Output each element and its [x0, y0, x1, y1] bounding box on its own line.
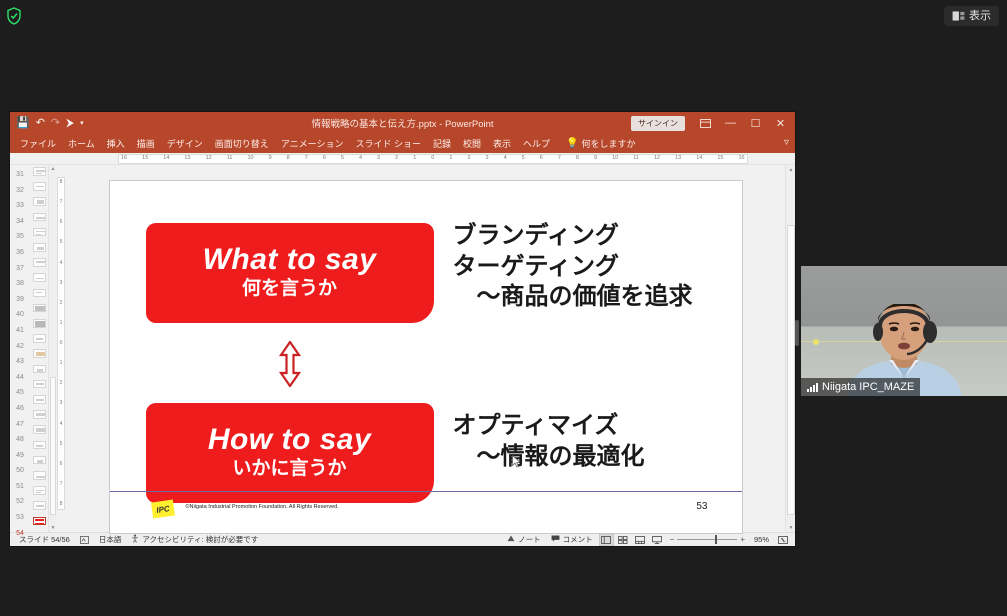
- slide-thumbnail[interactable]: [33, 471, 46, 480]
- reading-view-button[interactable]: [633, 534, 648, 546]
- slide-thumbnail[interactable]: [33, 289, 46, 298]
- comments-label: コメント: [563, 534, 593, 545]
- what-to-say-japanese: 何を言うか: [242, 277, 337, 302]
- horizontal-ruler-track: 16 15 14 13 12 11 10 9 8 7 6 5 4 3 2 1 0…: [118, 154, 748, 164]
- slide-thumbnail[interactable]: [33, 410, 46, 419]
- ruler-tick: 3: [60, 401, 63, 406]
- slide-thumbnail[interactable]: [33, 395, 46, 404]
- ruler-tick: 8: [60, 502, 63, 507]
- ribbon-tab-slideshow[interactable]: スライド ショー: [349, 134, 427, 153]
- close-button[interactable]: ✕: [768, 112, 793, 134]
- ruler-tick: 11: [227, 156, 233, 162]
- ruler-tick: 4: [60, 261, 63, 266]
- ruler-tick: 14: [163, 156, 169, 162]
- accessibility-label: アクセシビリティ: 検討が必要です: [142, 534, 258, 545]
- slide-page-number: 53: [696, 501, 707, 512]
- slide-number: 39: [16, 292, 24, 308]
- slide-footer: IPC ©Niigata Industrial Promotion Founda…: [110, 491, 742, 533]
- slide-editing-surface[interactable]: What to say 何を言うか ブランディング ターゲティング 〜商品の価値…: [110, 181, 742, 533]
- slide-scrollbar-thumb[interactable]: [787, 225, 795, 515]
- slide-thumbnail[interactable]: [33, 167, 46, 176]
- ribbon-tab-file[interactable]: ファイル: [14, 134, 62, 153]
- optimize-line-1: オプティマイズ: [453, 411, 645, 442]
- tell-me-search[interactable]: 💡 何をしますか: [560, 134, 641, 153]
- ribbon-tab-draw[interactable]: 描画: [131, 134, 161, 153]
- slide-thumbnail[interactable]: [33, 273, 46, 282]
- ruler-tick: 5: [60, 240, 63, 245]
- ruler-tick: 8: [287, 156, 290, 162]
- ribbon-tab-view[interactable]: 表示: [487, 134, 517, 153]
- slide-number: 50: [16, 463, 24, 479]
- branding-text-block[interactable]: ブランディング ターゲティング 〜商品の価値を追求: [453, 221, 693, 313]
- signal-strength-icon: [807, 383, 818, 392]
- ruler-tick: 3: [377, 156, 380, 162]
- ruler-tick: 9: [269, 156, 272, 162]
- accessibility-icon: [131, 534, 139, 545]
- minimize-button[interactable]: —: [718, 112, 743, 134]
- slide-number: 35: [16, 229, 24, 245]
- slide-number: 41: [16, 323, 24, 339]
- ruler-tick: 6: [540, 156, 543, 162]
- ruler-tick: 7: [60, 200, 63, 205]
- ruler-tick: 8: [576, 156, 579, 162]
- meeting-view-label: 表示: [969, 6, 991, 26]
- slide-thumbnail[interactable]: [33, 334, 46, 343]
- thumbnail-scrollbar[interactable]: ▲ ▼: [48, 165, 56, 532]
- notes-label: ノート: [518, 534, 541, 545]
- ruler-tick: 5: [341, 156, 344, 162]
- slide-number: 34: [16, 214, 24, 230]
- zoom-slider[interactable]: − +: [670, 535, 745, 544]
- copyright-text: ©Niigata Industrial Promotion Foundation…: [186, 504, 339, 510]
- ruler-tick: 6: [323, 156, 326, 162]
- powerpoint-window: 💾 ↶ ↷ ⮞ ▾ 情報戦略の基本と伝え方.pptx - PowerPoint …: [10, 112, 795, 546]
- vertical-ruler: 8 7 6 5 4 3 2 1 0 1 2 3 4 5 6 7 8: [56, 165, 66, 532]
- slide-number: 43: [16, 354, 24, 370]
- slide-number: 36: [16, 245, 24, 261]
- undo-icon[interactable]: ↶: [36, 118, 45, 129]
- ruler-tick: 15: [142, 156, 148, 162]
- workspace: 31 32 33 34 35 36 37 38 39 40 41 42 43 4…: [10, 165, 795, 532]
- slide-thumbnail-active[interactable]: [33, 517, 46, 526]
- slide-thumbnail[interactable]: [33, 486, 46, 495]
- ruler-tick: 7: [305, 156, 308, 162]
- branding-line-2: ターゲティング: [453, 252, 693, 283]
- slide-number: 46: [16, 401, 24, 417]
- ruler-tick: 1: [60, 321, 63, 326]
- slide-thumbnail[interactable]: [33, 182, 46, 191]
- normal-view-button[interactable]: [599, 534, 614, 546]
- slide-thumbnail[interactable]: [33, 319, 46, 328]
- slide-number: 40: [16, 307, 24, 323]
- sign-in-button[interactable]: サインイン: [631, 116, 685, 131]
- comments-button[interactable]: コメント: [546, 534, 598, 545]
- slide-thumbnail[interactable]: [33, 441, 46, 450]
- ruler-tick: 16: [739, 156, 745, 162]
- scroll-up-icon[interactable]: ▲: [786, 165, 795, 174]
- slide-number-column: 31 32 33 34 35 36 37 38 39 40 41 42 43 4…: [10, 165, 30, 532]
- redo-icon[interactable]: ↷: [51, 118, 60, 129]
- ruler-tick: 6: [60, 462, 63, 467]
- collapse-ribbon-icon[interactable]: ▿: [784, 137, 789, 148]
- ribbon-tab-bar: ファイル ホーム 挿入 描画 デザイン 画面切り替え アニメーション スライド …: [10, 134, 795, 153]
- slide-number: 53: [16, 510, 24, 526]
- zoom-slider-knob[interactable]: [715, 535, 717, 544]
- slide-thumbnail[interactable]: [33, 228, 46, 237]
- language-indicator[interactable]: 日本語: [94, 534, 127, 545]
- layout-view-icon: [952, 11, 965, 21]
- ruler-tick: 16: [121, 156, 127, 162]
- meeting-view-button[interactable]: 表示: [944, 6, 999, 26]
- ruler-tick: 13: [675, 156, 681, 162]
- ribbon-display-options-button[interactable]: [693, 112, 718, 134]
- ribbon-tab-help[interactable]: ヘルプ: [517, 134, 556, 153]
- ruler-tick: 8: [60, 180, 63, 185]
- double-headed-vertical-arrow-icon: [276, 341, 304, 392]
- slide-number: 38: [16, 276, 24, 292]
- ruler-tick: 2: [395, 156, 398, 162]
- how-to-say-box[interactable]: How to say いかに言うか: [146, 403, 434, 503]
- ipc-logo: IPC: [150, 500, 174, 519]
- slide-number: 32: [16, 183, 24, 199]
- title-bar: 💾 ↶ ↷ ⮞ ▾ 情報戦略の基本と伝え方.pptx - PowerPoint …: [10, 112, 795, 134]
- zoom-out-button[interactable]: −: [670, 535, 675, 544]
- slide-number: 48: [16, 432, 24, 448]
- ribbon-tab-transitions[interactable]: 画面切り替え: [209, 134, 275, 153]
- ruler-tick: 10: [612, 156, 618, 162]
- horizontal-ruler: 16 15 14 13 12 11 10 9 8 7 6 5 4 3 2 1 0…: [10, 153, 795, 165]
- customize-quick-access-icon[interactable]: ▾: [80, 120, 84, 127]
- slide-thumbnail[interactable]: [33, 304, 46, 313]
- ruler-tick: 1: [60, 361, 63, 366]
- panel-drag-handle[interactable]: [795, 320, 799, 346]
- ruler-tick: 15: [717, 156, 723, 162]
- fit-to-window-icon[interactable]: [775, 534, 790, 546]
- ruler-tick: 4: [359, 156, 362, 162]
- branding-line-1: ブランディング: [453, 221, 693, 252]
- ruler-tick: 0: [60, 341, 63, 346]
- mouse-cursor: [512, 455, 521, 473]
- ruler-tick: 3: [60, 281, 63, 286]
- slide-thumbnail[interactable]: [33, 349, 46, 358]
- ruler-tick: 5: [522, 156, 525, 162]
- window-controls: サインイン — ☐ ✕: [631, 112, 795, 134]
- ribbon-tab-design[interactable]: デザイン: [161, 134, 209, 153]
- zoom-level[interactable]: 95%: [749, 535, 774, 544]
- what-to-say-box[interactable]: What to say 何を言うか: [146, 223, 434, 323]
- quick-access-toolbar: 💾 ↶ ↷ ⮞ ▾: [10, 118, 84, 129]
- footer-divider: [110, 491, 742, 492]
- slide-thumbnail[interactable]: [33, 456, 46, 465]
- ruler-tick: 9: [594, 156, 597, 162]
- status-bar: スライド 54/56 日本語 アクセシビリティ: 検討が必要です ノート: [10, 532, 795, 546]
- notes-button[interactable]: ノート: [502, 534, 546, 545]
- slide-number: 44: [16, 370, 24, 386]
- ruler-tick: 1: [413, 156, 416, 162]
- ruler-tick: 6: [60, 220, 63, 225]
- how-to-say-english: How to say: [208, 424, 371, 456]
- ruler-tick: 2: [60, 301, 63, 306]
- slide-number: 52: [16, 494, 24, 510]
- slide-vertical-scrollbar[interactable]: ▲ ▼: [785, 165, 795, 532]
- slide-thumbnail[interactable]: [33, 213, 46, 222]
- accessibility-status[interactable]: アクセシビリティ: 検討が必要です: [126, 534, 263, 545]
- ruler-tick: 7: [60, 482, 63, 487]
- screen: 表示 💾 ↶ ↷ ⮞ ▾ 情報戦略の基本と伝え方.pptx - PowerPoi…: [0, 0, 1007, 616]
- participant-name-badge: Niigata IPC_MAZE: [801, 378, 920, 396]
- ruler-tick: 2: [467, 156, 470, 162]
- scroll-down-icon[interactable]: ▼: [786, 523, 795, 532]
- slide-thumbnail[interactable]: [33, 501, 46, 510]
- ruler-tick: 10: [247, 156, 253, 162]
- slide-number: 31: [16, 167, 24, 183]
- participant-name: Niigata IPC_MAZE: [822, 381, 914, 393]
- slide-number: 49: [16, 448, 24, 464]
- slide-counter[interactable]: スライド 54/56: [14, 534, 75, 545]
- ribbon-tab-animations[interactable]: アニメーション: [275, 134, 350, 153]
- start-slideshow-icon[interactable]: ⮞: [66, 118, 74, 129]
- slide-thumbnail-panel: [30, 165, 48, 532]
- ruler-tick: 4: [60, 422, 63, 427]
- restore-button[interactable]: ☐: [743, 112, 768, 134]
- zoom-slider-track[interactable]: [677, 539, 737, 540]
- ruler-tick: 1: [449, 156, 452, 162]
- slide-thumbnail[interactable]: [33, 365, 46, 374]
- zoom-in-button[interactable]: +: [740, 535, 745, 544]
- ruler-tick: 2: [60, 381, 63, 386]
- ruler-tick: 12: [206, 156, 212, 162]
- optimize-line-2: 〜情報の最適化: [453, 442, 645, 473]
- participant-video-tile[interactable]: Niigata IPC_MAZE: [801, 266, 1007, 396]
- ruler-tick: 4: [504, 156, 507, 162]
- slide-thumbnail[interactable]: [33, 380, 46, 389]
- ruler-tick: 5: [60, 442, 63, 447]
- ribbon-tab-review[interactable]: 校閲: [457, 134, 487, 153]
- slide-number: 42: [16, 339, 24, 355]
- ruler-tick: 11: [633, 156, 639, 162]
- branding-line-3: 〜商品の価値を追求: [453, 282, 693, 313]
- slide-number: 45: [16, 385, 24, 401]
- slide-thumbnail[interactable]: [33, 243, 46, 252]
- optimize-text-block[interactable]: オプティマイズ 〜情報の最適化: [453, 411, 645, 472]
- slide-number: 51: [16, 479, 24, 495]
- slideshow-view-button[interactable]: [650, 534, 665, 546]
- slide-thumbnail[interactable]: [33, 425, 46, 434]
- notes-icon: [507, 535, 515, 544]
- vertical-ruler-track: 8 7 6 5 4 3 2 1 0 1 2 3 4 5 6 7 8: [57, 177, 65, 510]
- what-to-say-english: What to say: [203, 244, 377, 276]
- ribbon-tab-home[interactable]: ホーム: [62, 134, 101, 153]
- ruler-tick: 7: [558, 156, 561, 162]
- slide-sorter-view-button[interactable]: [616, 534, 631, 546]
- slide-thumbnail[interactable]: [33, 258, 46, 267]
- shield-check-icon: [6, 7, 22, 25]
- ruler-tick: 3: [486, 156, 489, 162]
- slide-number: 47: [16, 417, 24, 433]
- save-icon[interactable]: 💾: [16, 118, 30, 129]
- spellcheck-icon[interactable]: [75, 536, 94, 544]
- tell-me-label: 何をしますか: [581, 137, 635, 150]
- ribbon-tab-insert[interactable]: 挿入: [101, 134, 131, 153]
- how-to-say-japanese: いかに言うか: [232, 457, 346, 482]
- comment-icon: [551, 535, 560, 544]
- slide-number: 37: [16, 261, 24, 277]
- slide-canvas-area: What to say 何を言うか ブランディング ターゲティング 〜商品の価値…: [66, 165, 785, 532]
- lightbulb-icon: 💡: [566, 138, 578, 149]
- ruler-tick: 13: [184, 156, 190, 162]
- slide-number: 33: [16, 198, 24, 214]
- ribbon-tab-record[interactable]: 記録: [427, 134, 457, 153]
- ruler-tick: 14: [696, 156, 702, 162]
- ruler-tick: 12: [654, 156, 660, 162]
- slide-thumbnail[interactable]: [33, 197, 46, 206]
- ruler-tick: 0: [431, 156, 434, 162]
